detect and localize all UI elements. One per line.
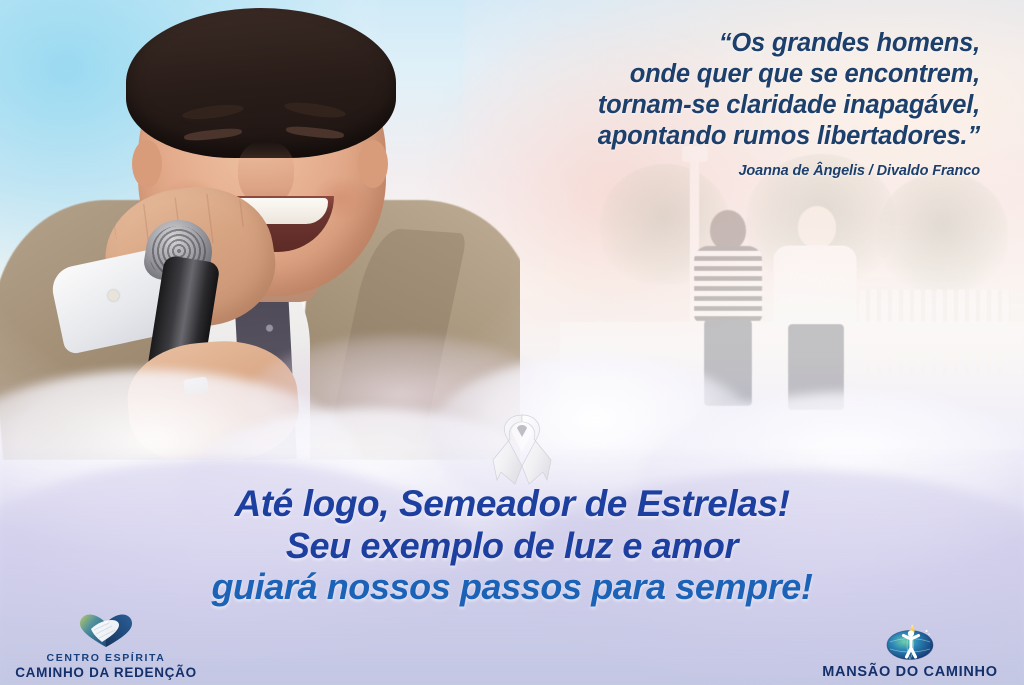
background-person-white-shirt <box>772 206 858 404</box>
globe-figure-flame-icon <box>884 621 936 661</box>
logo-mansao-do-caminho: MANSÃO DO CAMINHO <box>810 621 1010 681</box>
person-legs <box>788 324 844 410</box>
logo-left-line-1: CENTRO ESPÍRITA <box>8 652 204 665</box>
palm-tree-icon <box>878 172 1008 292</box>
person-torso <box>694 246 762 322</box>
background-photo-two-people-walking <box>560 150 1024 450</box>
hair <box>126 8 396 158</box>
background-fence <box>860 290 1010 376</box>
quote-attribution: Joanna de Ângelis / Divaldo Franco <box>420 163 980 179</box>
ring <box>183 376 209 395</box>
headline-line-3: guiará nossos passos para sempre! <box>0 566 1024 607</box>
person-legs <box>704 320 752 406</box>
heart-hands-icon <box>78 613 134 649</box>
person-torso <box>774 246 856 326</box>
quote-line-1: “Os grandes homens, <box>420 28 980 59</box>
quote-block: “Os grandes homens, onde quer que se enc… <box>420 28 980 179</box>
white-ribbon-icon <box>489 408 555 488</box>
memorial-poster: “Os grandes homens, onde quer que se enc… <box>0 0 1024 685</box>
background-person-striped-shirt <box>688 210 766 400</box>
ear-left <box>132 140 162 188</box>
quote-line-4: apontando rumos libertadores.” <box>420 121 980 152</box>
cuff-button <box>108 290 119 301</box>
quote-line-3: tornam-se claridade inapagável, <box>420 90 980 121</box>
headline-line-2: Seu exemplo de luz e amor <box>0 525 1024 566</box>
logo-centro-espirita-caminho-da-redencao: CENTRO ESPÍRITA CAMINHO DA REDENÇÃO <box>8 613 204 681</box>
quote-line-2: onde quer que se encontrem, <box>420 59 980 90</box>
headline-block: Até logo, Semeador de Estrelas! Seu exem… <box>0 483 1024 607</box>
person-head <box>710 210 746 250</box>
person-head <box>798 206 836 248</box>
logo-right-line-1: MANSÃO DO CAMINHO <box>810 664 1010 681</box>
headline-line-1: Até logo, Semeador de Estrelas! <box>0 483 1024 525</box>
ear-right <box>358 140 388 188</box>
logo-left-line-2: CAMINHO DA REDENÇÃO <box>8 665 204 681</box>
